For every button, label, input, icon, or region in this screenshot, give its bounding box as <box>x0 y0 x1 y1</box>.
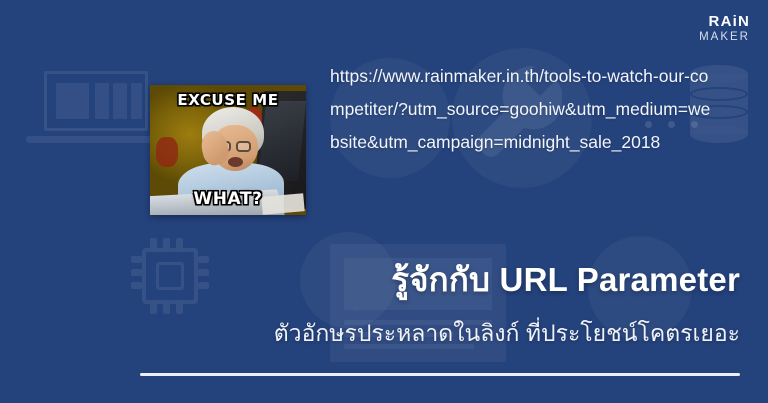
decorative-dot <box>479 170 486 177</box>
meme-caption-top: EXCUSE ME <box>150 91 306 109</box>
rainmaker-logo: RAiN MAKER <box>699 14 750 44</box>
bottom-divider <box>140 373 740 376</box>
promo-banner: RAiN MAKER https://www.rainmaker.in.th/t… <box>0 0 768 403</box>
meme-caption-bottom: WHAT? <box>150 189 306 209</box>
logo-line-secondary: MAKER <box>699 32 750 44</box>
example-url-text: https://www.rainmaker.in.th/tools-to-wat… <box>330 60 720 159</box>
page-subtitle: ตัวอักษรประหลาดในลิงก์ ที่ประโยชน์โคตรเย… <box>0 320 740 348</box>
decorative-dot <box>352 306 359 313</box>
grandma-meme-image: EXCUSE ME WHAT? <box>150 85 306 215</box>
page-title: รู้จักกับ URL Parameter <box>0 262 740 299</box>
logo-line-primary: RAiN <box>699 14 750 29</box>
